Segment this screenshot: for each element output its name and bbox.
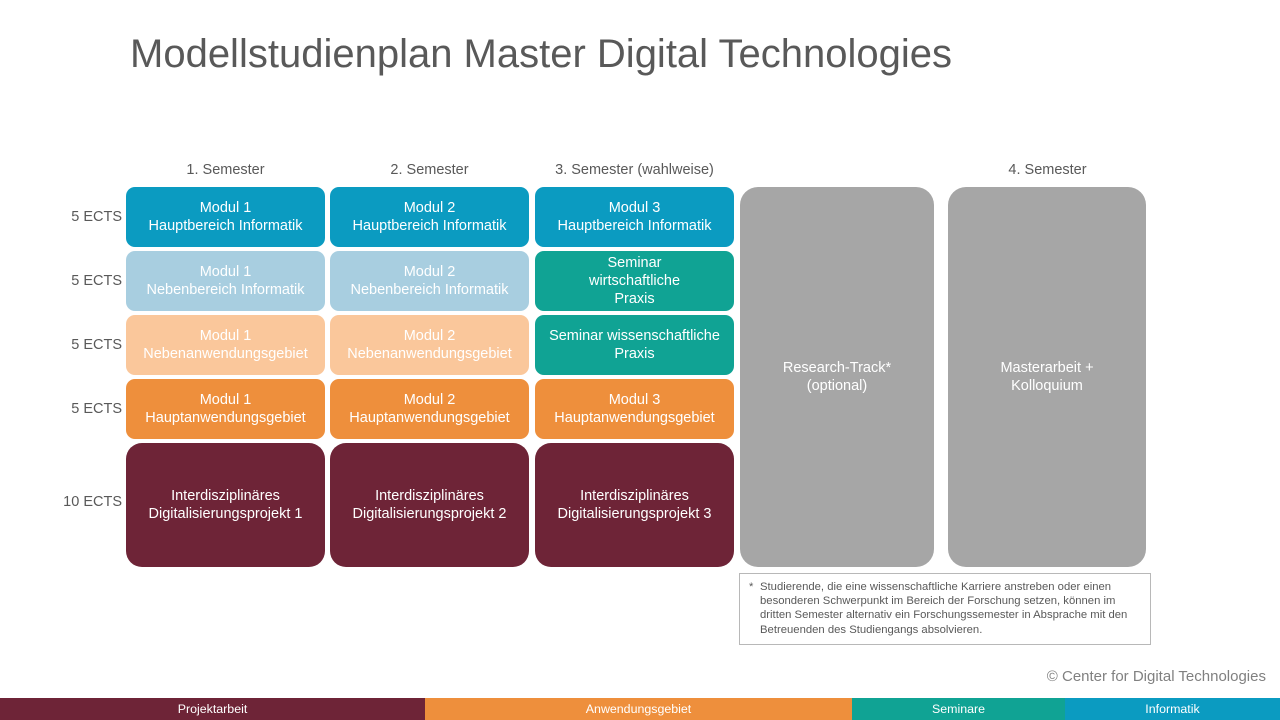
box-sem2-modul2-nebenanwendung[interactable]: Modul 2 Nebenanwendungsgebiet xyxy=(330,315,529,375)
legend-item-projektarbeit: Projektarbeit xyxy=(0,698,425,720)
research-track-footnote: * Studierende, die eine wissenschaftlich… xyxy=(739,573,1151,645)
semester-header-1: 1. Semester xyxy=(126,162,325,178)
ects-label-2: 5 ECTS xyxy=(38,273,122,289)
footnote-text: Studierende, die eine wissenschaftliche … xyxy=(760,580,1141,637)
ects-label-3: 5 ECTS xyxy=(38,337,122,353)
box-sem3-modul3-hauptbereich[interactable]: Modul 3 Hauptbereich Informatik xyxy=(535,187,734,247)
box-sem1-modul1-nebenanwendung[interactable]: Modul 1 Nebenanwendungsgebiet xyxy=(126,315,325,375)
ects-label-1: 5 ECTS xyxy=(38,209,122,225)
semester-header-4: 4. Semester xyxy=(948,162,1147,178)
box-sem2-modul2-hauptanwendung[interactable]: Modul 2 Hauptanwendungsgebiet xyxy=(330,379,529,439)
box-research-track[interactable]: Research-Track* (optional) xyxy=(740,187,934,567)
box-masterarbeit-kolloquium[interactable]: Masterarbeit + Kolloquium xyxy=(948,187,1146,567)
ects-label-4: 5 ECTS xyxy=(38,401,122,417)
box-sem3-modul3-hauptanwendung[interactable]: Modul 3 Hauptanwendungsgebiet xyxy=(535,379,734,439)
box-sem3-projekt3[interactable]: Interdisziplinäres Digitalisierungsproje… xyxy=(535,443,734,567)
legend-bar: ProjektarbeitAnwendungsgebietSeminareInf… xyxy=(0,698,1280,720)
box-sem1-modul1-hauptanwendung[interactable]: Modul 1 Hauptanwendungsgebiet xyxy=(126,379,325,439)
box-sem1-projekt1[interactable]: Interdisziplinäres Digitalisierungsproje… xyxy=(126,443,325,567)
semester-header-2: 2. Semester xyxy=(330,162,529,178)
box-sem1-modul1-hauptbereich[interactable]: Modul 1 Hauptbereich Informatik xyxy=(126,187,325,247)
legend-item-informatik: Informatik xyxy=(1065,698,1280,720)
footnote-marker: * xyxy=(749,580,760,594)
slide-canvas: Modellstudienplan Master Digital Technol… xyxy=(0,0,1280,720)
box-sem2-projekt2[interactable]: Interdisziplinäres Digitalisierungsproje… xyxy=(330,443,529,567)
box-sem2-modul2-hauptbereich[interactable]: Modul 2 Hauptbereich Informatik xyxy=(330,187,529,247)
box-sem3-seminar-wirtschaftliche[interactable]: Seminar wirtschaftliche Praxis xyxy=(535,251,734,311)
page-title: Modellstudienplan Master Digital Technol… xyxy=(130,32,1170,77)
box-sem3-seminar-wissenschaftliche[interactable]: Seminar wissenschaftliche Praxis xyxy=(535,315,734,375)
ects-label-5: 10 ECTS xyxy=(38,494,122,510)
semester-header-3: 3. Semester (wahlweise) xyxy=(535,162,734,178)
legend-item-seminare: Seminare xyxy=(852,698,1065,720)
copyright-notice: © Center for Digital Technologies xyxy=(1047,668,1266,685)
box-sem2-modul2-nebenbereich[interactable]: Modul 2 Nebenbereich Informatik xyxy=(330,251,529,311)
box-sem1-modul1-nebenbereich[interactable]: Modul 1 Nebenbereich Informatik xyxy=(126,251,325,311)
legend-item-anwendungsgebiet: Anwendungsgebiet xyxy=(425,698,852,720)
